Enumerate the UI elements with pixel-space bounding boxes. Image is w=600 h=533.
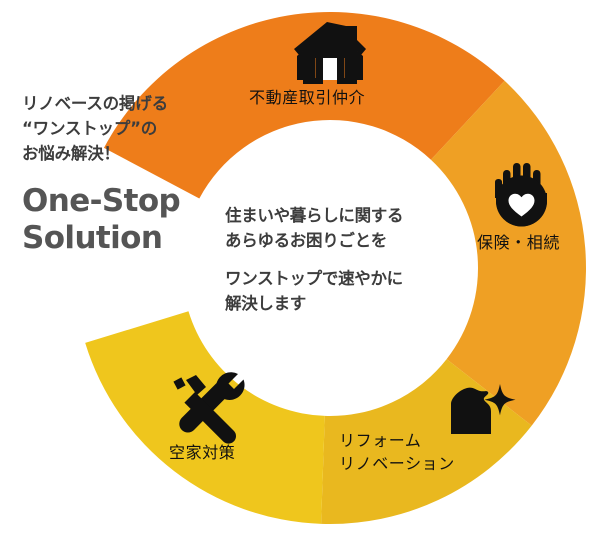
segment-label-reform-line2: リノベーション — [339, 453, 455, 476]
headline-line-2: Solution — [22, 220, 237, 256]
segment-label-insurance[interactable]: 保険・相続 — [477, 232, 560, 255]
center-para1-line1: 住まいや暮らしに関する — [225, 203, 460, 228]
center-para2-line1: ワンストップで速やかに — [225, 266, 460, 291]
center-paragraph-1: 住まいや暮らしに関する あらゆるお困りごとを — [225, 203, 460, 253]
hammer-wrench-icon — [168, 370, 254, 444]
segment-label-real-estate[interactable]: 不動産取引仲介 — [249, 87, 365, 110]
infographic-canvas: リノベースの掲げる “ワンストップ”の お悩み解決！ One-Stop Solu… — [0, 0, 600, 533]
segment-label-vacant-house[interactable]: 空家対策 — [169, 442, 235, 465]
segment-label-reform-line1: リフォーム — [339, 430, 455, 453]
page-title: One-Stop Solution — [22, 183, 237, 256]
house-icon — [291, 22, 369, 84]
headline-line-1: One-Stop — [22, 183, 237, 219]
lead-line-1: リノベースの掲げる — [22, 92, 237, 117]
center-text-block: 住まいや暮らしに関する あらゆるお困りごとを ワンストップで速やかに 解決します — [225, 203, 460, 316]
segment-label-reform[interactable]: リフォーム リノベーション — [339, 430, 455, 475]
center-paragraph-2: ワンストップで速やかに 解決します — [225, 266, 460, 316]
hand-heart-icon — [490, 160, 552, 230]
center-para2-line2: 解決します — [225, 291, 460, 316]
center-para1-line2: あらゆるお困りごとを — [225, 228, 460, 253]
left-text-block: リノベースの掲げる “ワンストップ”の お悩み解決！ One-Stop Solu… — [22, 92, 237, 256]
lead-line-3: お悩み解決！ — [22, 142, 237, 167]
lead-line-2: “ワンストップ”の — [22, 117, 237, 142]
